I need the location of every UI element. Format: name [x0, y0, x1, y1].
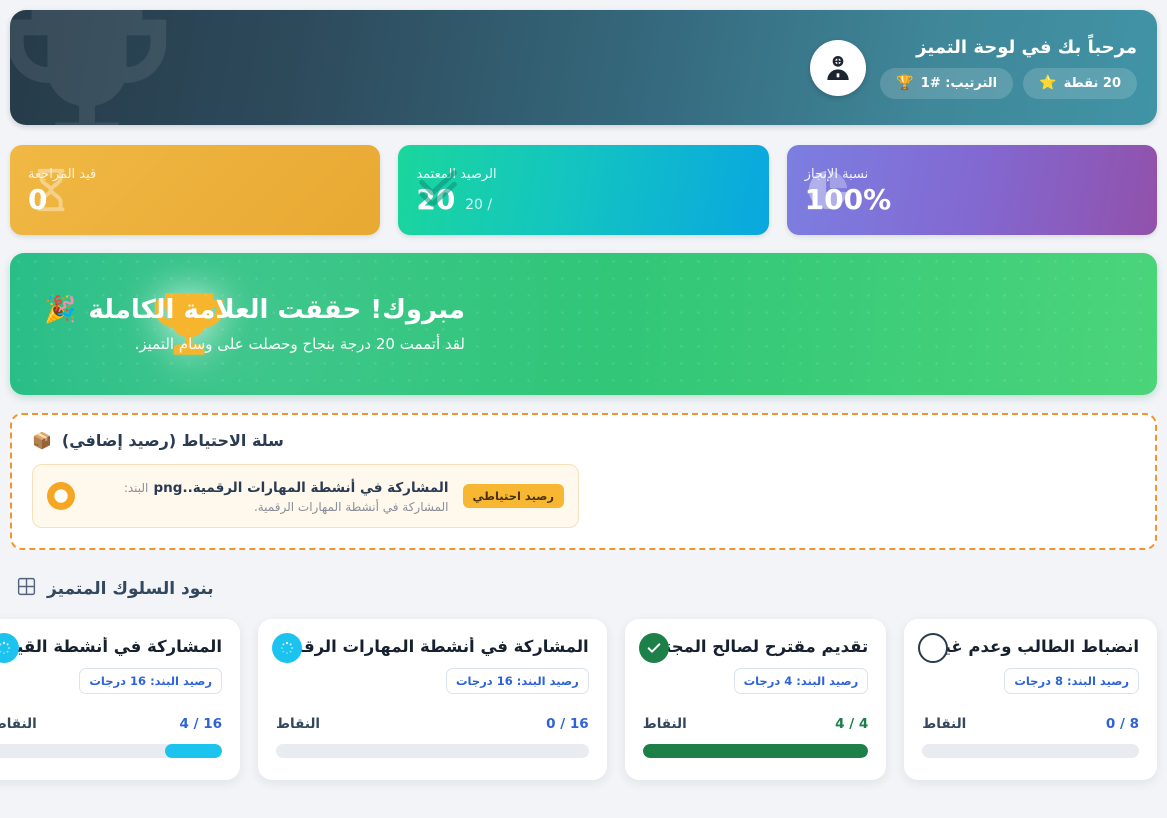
- clock-icon: [47, 482, 75, 510]
- hero-text-group: مرحباً بك في لوحة التميز 🏆 الترتيب: #1 ⭐…: [880, 37, 1137, 99]
- double-check-icon: [416, 167, 462, 213]
- party-popper-icon: 🎉: [44, 295, 76, 325]
- points-value: 0 / 16: [546, 716, 589, 732]
- points-label: النقاط: [0, 716, 37, 732]
- behavior-card[interactable]: المشاركة في أنشطة المهارات الرقمية رصيد …: [258, 619, 607, 780]
- behavior-card-points-row: النقاط 0 / 8: [922, 716, 1139, 732]
- reserve-item-title: المشاركة في أنشطة المهارات الرقمية..png: [153, 480, 448, 496]
- avatar[interactable]: [810, 40, 866, 96]
- leaderboard-page: مرحباً بك في لوحة التميز 🏆 الترتيب: #1 ⭐…: [0, 0, 1167, 818]
- behavior-card-title: انضباط الطالب وعدم غيابه: [922, 637, 1139, 658]
- hourglass-icon: [28, 167, 74, 213]
- rank-label: الترتيب: #1: [921, 76, 997, 91]
- behavior-card-top: تقديم مقترح لصالح المجتمع: [643, 637, 869, 658]
- behavior-card-title: تقديم مقترح لصالح المجتمع: [643, 637, 869, 658]
- behavior-card-credit-row: رصيد البند: 8 درجات: [922, 668, 1139, 694]
- empty-circle-icon: [918, 633, 948, 663]
- progress-bar: [276, 744, 589, 758]
- behavior-card-top: انضباط الطالب وعدم غيابه: [922, 637, 1139, 658]
- celebration-subtitle: لقد أتممت 20 درجة بنجاح وحصلت على وسام ا…: [44, 335, 465, 353]
- trophy-watermark-icon: [10, 10, 182, 125]
- behavior-card-credit-row: رصيد البند: 16 درجات: [276, 668, 589, 694]
- behavior-card-credit-row: رصيد البند: 4 درجات: [643, 668, 869, 694]
- behavior-card[interactable]: المشاركة في أنشطة القيادة رصيد البند: 16…: [0, 619, 240, 780]
- celebration-text: 🎉 مبروك! حققت العلامة الكاملة لقد أتممت …: [44, 295, 465, 353]
- section-title: بنود السلوك المتميز: [47, 579, 214, 599]
- reserve-basket-section: 📦 سلة الاحتياط (رصيد إضافي) المشاركة في …: [10, 413, 1157, 550]
- grid-icon: [16, 576, 37, 601]
- status-badge: رصيد احتياطي: [463, 484, 564, 508]
- behavior-card-credit-row: رصيد البند: 16 درجات: [0, 668, 222, 694]
- star-icon: ⭐: [1039, 76, 1056, 90]
- behavior-section-header: بنود السلوك المتميز: [10, 576, 1157, 601]
- progress-bar: [0, 744, 222, 758]
- behavior-card-points-row: النقاط 0 / 16: [276, 716, 589, 732]
- credit-badge: رصيد البند: 16 درجات: [446, 668, 589, 694]
- behavior-card[interactable]: انضباط الطالب وعدم غيابه رصيد البند: 8 د…: [904, 619, 1157, 780]
- hero-pills: 🏆 الترتيب: #1 ⭐ 20 نقطة: [880, 68, 1137, 99]
- rank-pill: 🏆 الترتيب: #1: [880, 68, 1013, 99]
- behavior-card-top: المشاركة في أنشطة القيادة: [0, 637, 222, 658]
- open-box-icon: 📦: [32, 431, 52, 450]
- spinner-icon: [272, 633, 302, 663]
- hero-header: مرحباً بك في لوحة التميز 🏆 الترتيب: #1 ⭐…: [10, 10, 1157, 125]
- points-value: 0 / 8: [1106, 716, 1139, 732]
- behavior-card-points-row: النقاط 4 / 4: [643, 716, 869, 732]
- check-circle-icon: [639, 633, 669, 663]
- credit-badge: رصيد البند: 8 درجات: [1004, 668, 1139, 694]
- credit-badge: رصيد البند: 16 درجات: [79, 668, 222, 694]
- points-label: النقاط: [276, 716, 320, 732]
- behavior-card-points-row: النقاط 4 / 16: [0, 716, 222, 732]
- reserve-header: 📦 سلة الاحتياط (رصيد إضافي): [32, 431, 1135, 450]
- points-pill: ⭐ 20 نقطة: [1023, 68, 1137, 99]
- page-title: مرحباً بك في لوحة التميز: [880, 37, 1137, 58]
- pie-chart-icon: [805, 167, 851, 213]
- trophy-icon: 🏆: [896, 76, 913, 90]
- stats-row: نسبة الإنجاز 100% الرصيد المعتمد / 20 20…: [10, 145, 1157, 235]
- behavior-card-title: المشاركة في أنشطة القيادة: [0, 637, 222, 658]
- credit-badge: رصيد البند: 4 درجات: [734, 668, 869, 694]
- celebration-title: مبروك! حققت العلامة الكاملة: [88, 295, 465, 325]
- points-value: 4 / 4: [835, 716, 868, 732]
- user-avatar-icon: [822, 52, 854, 84]
- hero-right-group: مرحباً بك في لوحة التميز 🏆 الترتيب: #1 ⭐…: [810, 10, 1137, 125]
- reserve-item-texts: المشاركة في أنشطة المهارات الرقمية..png …: [89, 477, 449, 515]
- stat-card-pending: قيد المراجعة 0: [10, 145, 380, 235]
- progress-bar-fill: [165, 744, 222, 758]
- stat-card-percent: نسبة الإنجاز 100%: [787, 145, 1157, 235]
- stat-fraction: / 20: [465, 197, 492, 213]
- behavior-card-title: المشاركة في أنشطة المهارات الرقمية: [276, 637, 589, 658]
- behavior-cards-row: انضباط الطالب وعدم غيابه رصيد البند: 8 د…: [10, 619, 1157, 780]
- stat-card-approved: الرصيد المعتمد / 20 20: [398, 145, 768, 235]
- progress-bar: [643, 744, 869, 758]
- points-label: النقاط: [643, 716, 687, 732]
- points-label: 20 نقطة: [1064, 76, 1121, 91]
- progress-bar: [922, 744, 1139, 758]
- progress-bar-fill: [643, 744, 869, 758]
- celebration-title-row: 🎉 مبروك! حققت العلامة الكاملة: [44, 295, 465, 325]
- points-label: النقاط: [922, 716, 966, 732]
- reserve-title: سلة الاحتياط (رصيد إضافي): [62, 431, 284, 450]
- behavior-card-top: المشاركة في أنشطة المهارات الرقمية: [276, 637, 589, 658]
- behavior-card[interactable]: تقديم مقترح لصالح المجتمع رصيد البند: 4 …: [625, 619, 887, 780]
- points-value: 4 / 16: [180, 716, 223, 732]
- celebration-banner: 🎉 مبروك! حققت العلامة الكاملة لقد أتممت …: [10, 253, 1157, 395]
- reserve-item[interactable]: المشاركة في أنشطة المهارات الرقمية..png …: [32, 464, 579, 528]
